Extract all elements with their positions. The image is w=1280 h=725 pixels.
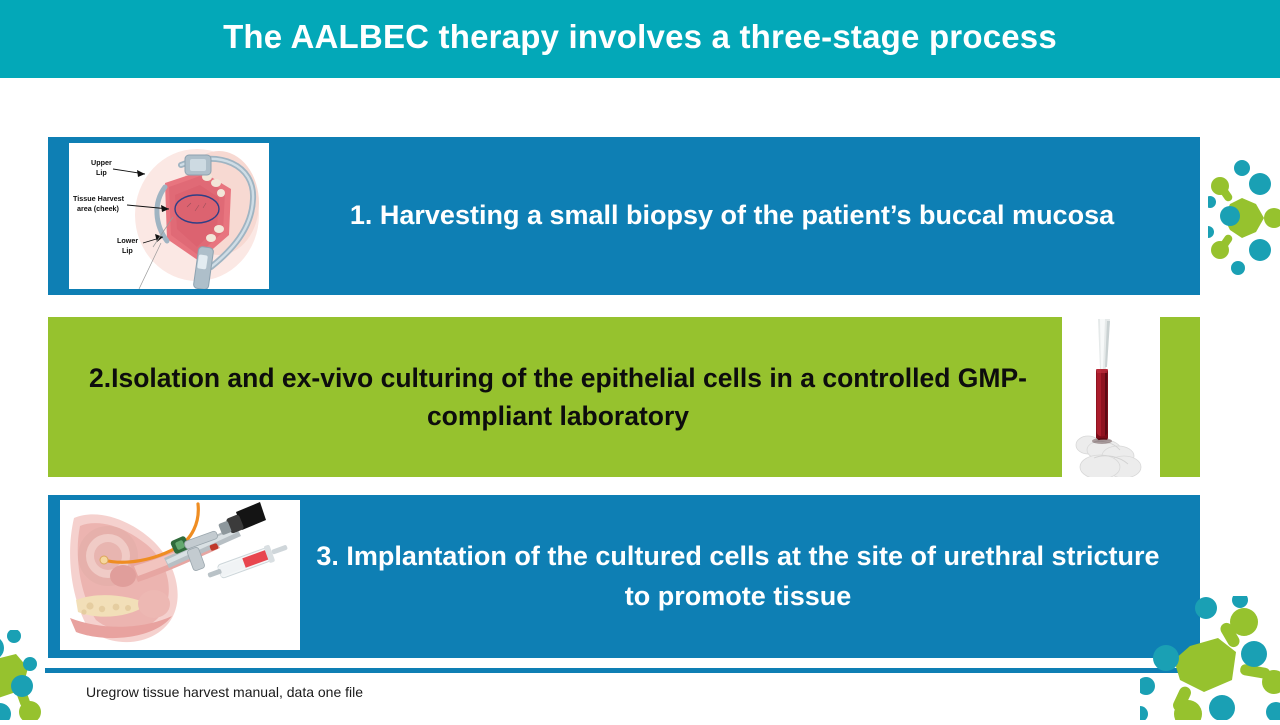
step-3-text: 3. Implantation of the cultured cells at… [304,505,1172,648]
molecule-icon [1208,158,1280,278]
step-2-text: 2.Isolation and ex-vivo culturing of the… [78,325,1038,469]
svg-text:Tissue Harvest: Tissue Harvest [73,194,125,203]
svg-text:Upper: Upper [91,158,112,167]
molecule-decoration-right [1208,158,1280,278]
step-row-2: 2.Isolation and ex-vivo culturing of the… [48,317,1200,477]
step-2-image-panel [1062,317,1160,477]
molecule-icon [1140,596,1280,720]
svg-text:Lip: Lip [96,168,107,177]
svg-text:Lip: Lip [122,246,133,255]
step-1-text: 1. Harvesting a small biopsy of the pati… [292,147,1172,285]
step-1-image-panel: Upper Lip Tissue Harvest area (cheek) Lo… [69,143,269,289]
svg-text:area (cheek): area (cheek) [77,204,120,213]
buccal-mucosa-retractor-illustration: Upper Lip Tissue Harvest area (cheek) Lo… [69,143,269,289]
step-3-image-panel [60,500,300,650]
molecule-icon [0,630,62,720]
step-row-1: Upper Lip Tissue Harvest area (cheek) Lo… [48,137,1200,295]
molecule-decoration-bottom-right [1140,596,1280,720]
step-2-band-right [1160,317,1200,477]
urethral-implantation-catheter-illustration [60,500,300,650]
gloved-hand-test-tube-photo [1062,317,1160,477]
step-row-3: 3. Implantation of the cultured cells at… [48,495,1200,658]
footer-divider [45,668,1200,673]
molecule-decoration-bottom-left [0,630,62,720]
page-title: The AALBEC therapy involves a three-stag… [0,0,1280,78]
footer-source-note: Uregrow tissue harvest manual, data one … [86,684,363,700]
svg-text:Lower: Lower [117,236,138,245]
